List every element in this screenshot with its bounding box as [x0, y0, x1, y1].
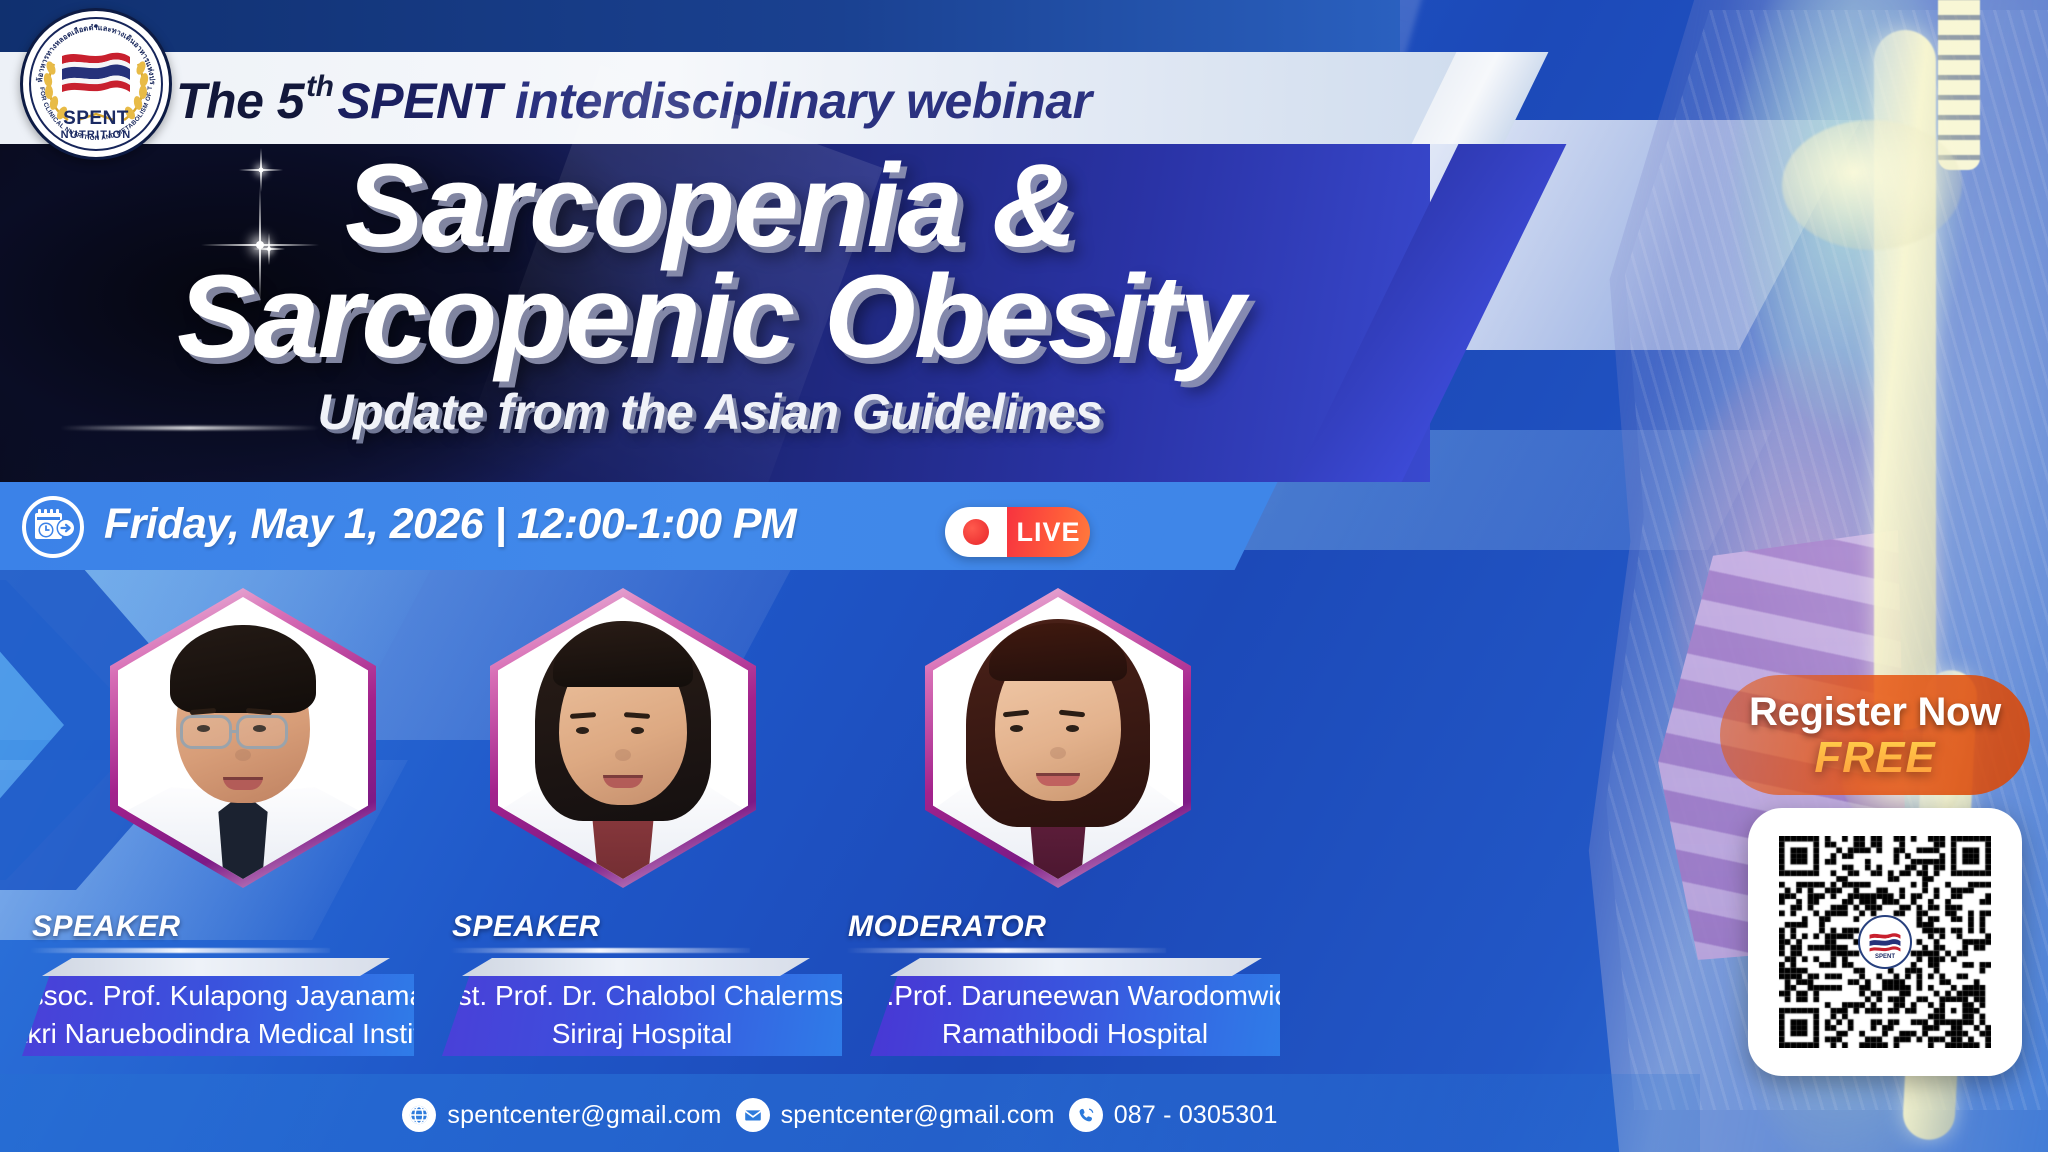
register-price: FREE — [1814, 735, 1935, 781]
register-now-button[interactable]: Register Now FREE — [1720, 675, 2030, 795]
hero-title-line2: Sarcopenic Obesity — [0, 265, 1420, 370]
nameplate-top-accent — [42, 958, 390, 976]
speaker-affiliation: Chakri Naruebodindra Medical Institute — [0, 1015, 460, 1053]
contact-item-email[interactable]: spentcenter@gmail.com — [736, 1098, 1055, 1132]
contact-item-website[interactable]: spentcenter@gmail.com — [402, 1098, 721, 1132]
hero-subtitle: Update from the Asian Guidelines — [0, 382, 1420, 442]
schedule-text: Friday, May 1, 2026 | 12:00-1:00 PM — [104, 500, 796, 549]
spent-logo: สมาคมผู้ให้อาหารทางหลอดเลือดดำและทางเดิน… — [20, 8, 172, 160]
role-underline — [450, 948, 750, 953]
register-label: Register Now — [1749, 690, 2001, 735]
portrait-moderator — [933, 597, 1183, 879]
nameplate-speaker-1: Assoc. Prof. Kulapong Jayanama Chakri Na… — [22, 974, 414, 1056]
role-underline — [30, 948, 330, 953]
live-label-wrap: LIVE — [1007, 507, 1090, 557]
portrait-speaker-1 — [118, 597, 368, 879]
thai-flag-icon — [60, 50, 132, 94]
speaker-name: Assoc. Prof. Kulapong Jayanama — [11, 977, 425, 1015]
contact-text: 087 - 0305301 — [1114, 1101, 1278, 1130]
role-label-moderator: MODERATOR — [848, 910, 1046, 944]
nameplate-moderator: Asst.Prof. Daruneewan Warodomwichit Rama… — [870, 974, 1280, 1056]
role-label-speaker-2: SPEAKER — [452, 910, 601, 944]
hero-title-line1: Sarcopenia & — [0, 154, 1420, 259]
moderator-name: Asst.Prof. Daruneewan Warodomwichit — [832, 977, 1318, 1015]
contact-footer: spentcenter@gmail.com spentcenter@gmail.… — [0, 1078, 1680, 1152]
nameplate-speaker-2: Asst. Prof. Dr. Chalobol Chalermsri Siri… — [442, 974, 842, 1056]
envelope-icon — [736, 1098, 770, 1132]
nameplate-top-accent — [462, 958, 810, 976]
avatar — [925, 588, 1191, 888]
nameplate-top-accent — [890, 958, 1262, 976]
logo-acronym: SPENT — [20, 108, 172, 130]
header-ordinal: th — [304, 70, 337, 104]
portrait-speaker-2 — [498, 597, 748, 879]
role-label-speaker-1: SPEAKER — [32, 910, 181, 944]
qr-logo-acronym: SPENT — [1860, 954, 1910, 960]
header-org: SPENT — [337, 72, 501, 130]
contact-text: spentcenter@gmail.com — [447, 1101, 721, 1130]
phone-icon — [1069, 1098, 1103, 1132]
header-prefix: The 5 — [176, 72, 304, 130]
moderator-affiliation: Ramathibodi Hospital — [942, 1015, 1208, 1053]
contact-item-phone[interactable]: 087 - 0305301 — [1069, 1098, 1278, 1132]
avatar — [110, 588, 376, 888]
live-badge: LIVE — [945, 507, 1090, 557]
background-top-band — [0, 0, 1400, 52]
speaker-name: Asst. Prof. Dr. Chalobol Chalermsri — [425, 977, 859, 1015]
qr-center-logo: SPENT — [1858, 915, 1912, 969]
globe-icon — [402, 1098, 436, 1132]
logo-subtext: NUTRITION — [20, 129, 172, 141]
contact-text: spentcenter@gmail.com — [781, 1101, 1055, 1130]
webinar-poster: The 5thSPENT interdisciplinary webinar S… — [0, 0, 2048, 1152]
registration-qr-code[interactable]: SPENT — [1748, 808, 2022, 1076]
speaker-affiliation: Siriraj Hospital — [552, 1015, 733, 1053]
hero-title-block: Sarcopenia & Sarcopenic Obesity Update f… — [0, 154, 1420, 442]
calendar-forward-icon — [22, 496, 84, 558]
role-underline — [846, 948, 1166, 953]
avatar — [490, 588, 756, 888]
live-indicator-dot — [945, 507, 1007, 557]
live-label: LIVE — [1016, 517, 1080, 548]
